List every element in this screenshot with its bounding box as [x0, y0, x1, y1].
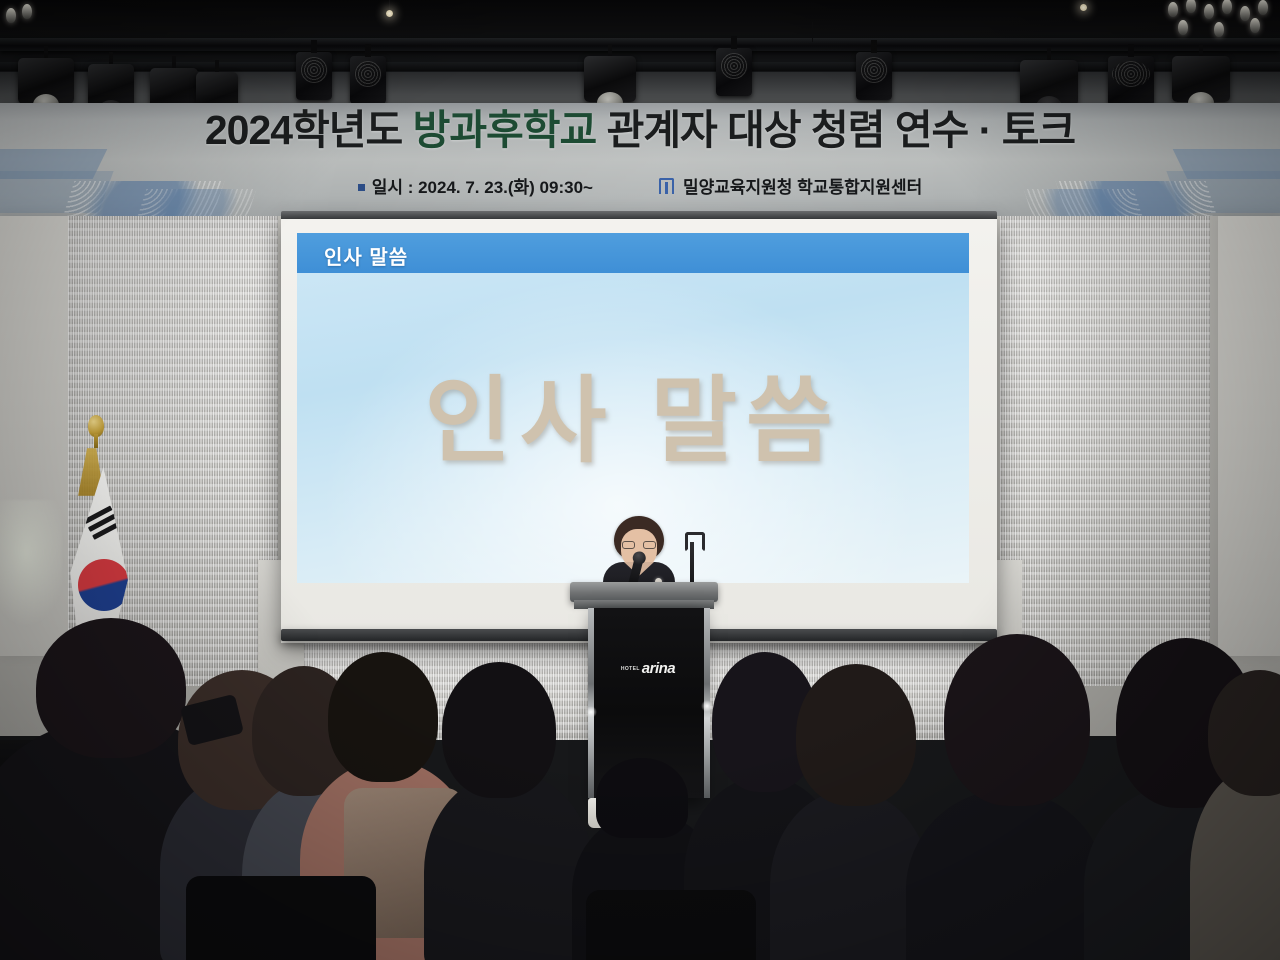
lighting-truss [0, 38, 1280, 51]
slide-header-label: 인사 말씀 [324, 241, 408, 270]
ceiling-lamp-icon [386, 10, 393, 17]
wall-panel-right [1218, 216, 1280, 656]
crystal-chandelier-icon [1154, 0, 1274, 44]
par-light-icon [716, 48, 752, 96]
slide-main-title: 인사 말씀 [297, 345, 969, 481]
attendee-head [442, 662, 556, 798]
banner-date-label: 일시 : 2024. 7. 23.(화) 09:30~ [372, 178, 593, 197]
event-banner: 2024학년도 방과후학교 관계자 대상 청렴 연수 · 토크 일시 : 202… [0, 103, 1280, 221]
par-light-icon [1108, 56, 1154, 106]
chair-back [186, 876, 376, 960]
audience [0, 600, 1280, 960]
lamp-wire [812, 22, 813, 42]
glasses-icon [622, 541, 656, 549]
flag-trigram-icon [84, 505, 123, 542]
attendee-head [36, 618, 186, 758]
banner-subtitle-row: 일시 : 2024. 7. 23.(화) 09:30~ 밀양교육지원청 학교통합… [0, 173, 1280, 198]
par-light-icon [350, 56, 386, 104]
slide-header-tab [767, 233, 969, 273]
bullet-square-icon [358, 184, 365, 191]
organization-mark-icon [659, 178, 674, 194]
podium-top-surface [570, 582, 718, 602]
attendee-head [796, 664, 916, 806]
banner-title: 2024학년도 방과후학교 관계자 대상 청렴 연수 · 토크 [0, 109, 1280, 152]
attendee-silhouette [424, 772, 594, 960]
attendee-head [944, 634, 1090, 806]
ceiling-lamp-icon [1080, 4, 1087, 11]
banner-date: 일시 : 2024. 7. 23.(화) 09:30~ [358, 173, 593, 198]
crystal-chandelier-icon [2, 0, 42, 40]
par-light-icon [296, 52, 332, 100]
ceiling-slab [0, 0, 1280, 34]
chair-back [586, 890, 756, 960]
banner-title-year: 2024학년도 [205, 107, 413, 153]
par-light-icon [856, 52, 892, 100]
attendee-head [328, 652, 438, 782]
banner-organizer: 밀양교육지원청 학교통합지원센터 [659, 173, 922, 198]
flagpole-finial-icon [88, 415, 104, 437]
attendee-head [596, 758, 688, 838]
banner-title-program: 방과후학교 [413, 107, 607, 153]
banner-title-rest: 관계자 대상 청렴 연수 · 토크 [607, 107, 1076, 153]
attendee-silhouette [906, 790, 1106, 960]
photo-scene: 2024학년도 방과후학교 관계자 대상 청렴 연수 · 토크 일시 : 202… [0, 0, 1280, 960]
banner-organizer-label: 밀양교육지원청 학교통합지원센터 [683, 173, 922, 198]
